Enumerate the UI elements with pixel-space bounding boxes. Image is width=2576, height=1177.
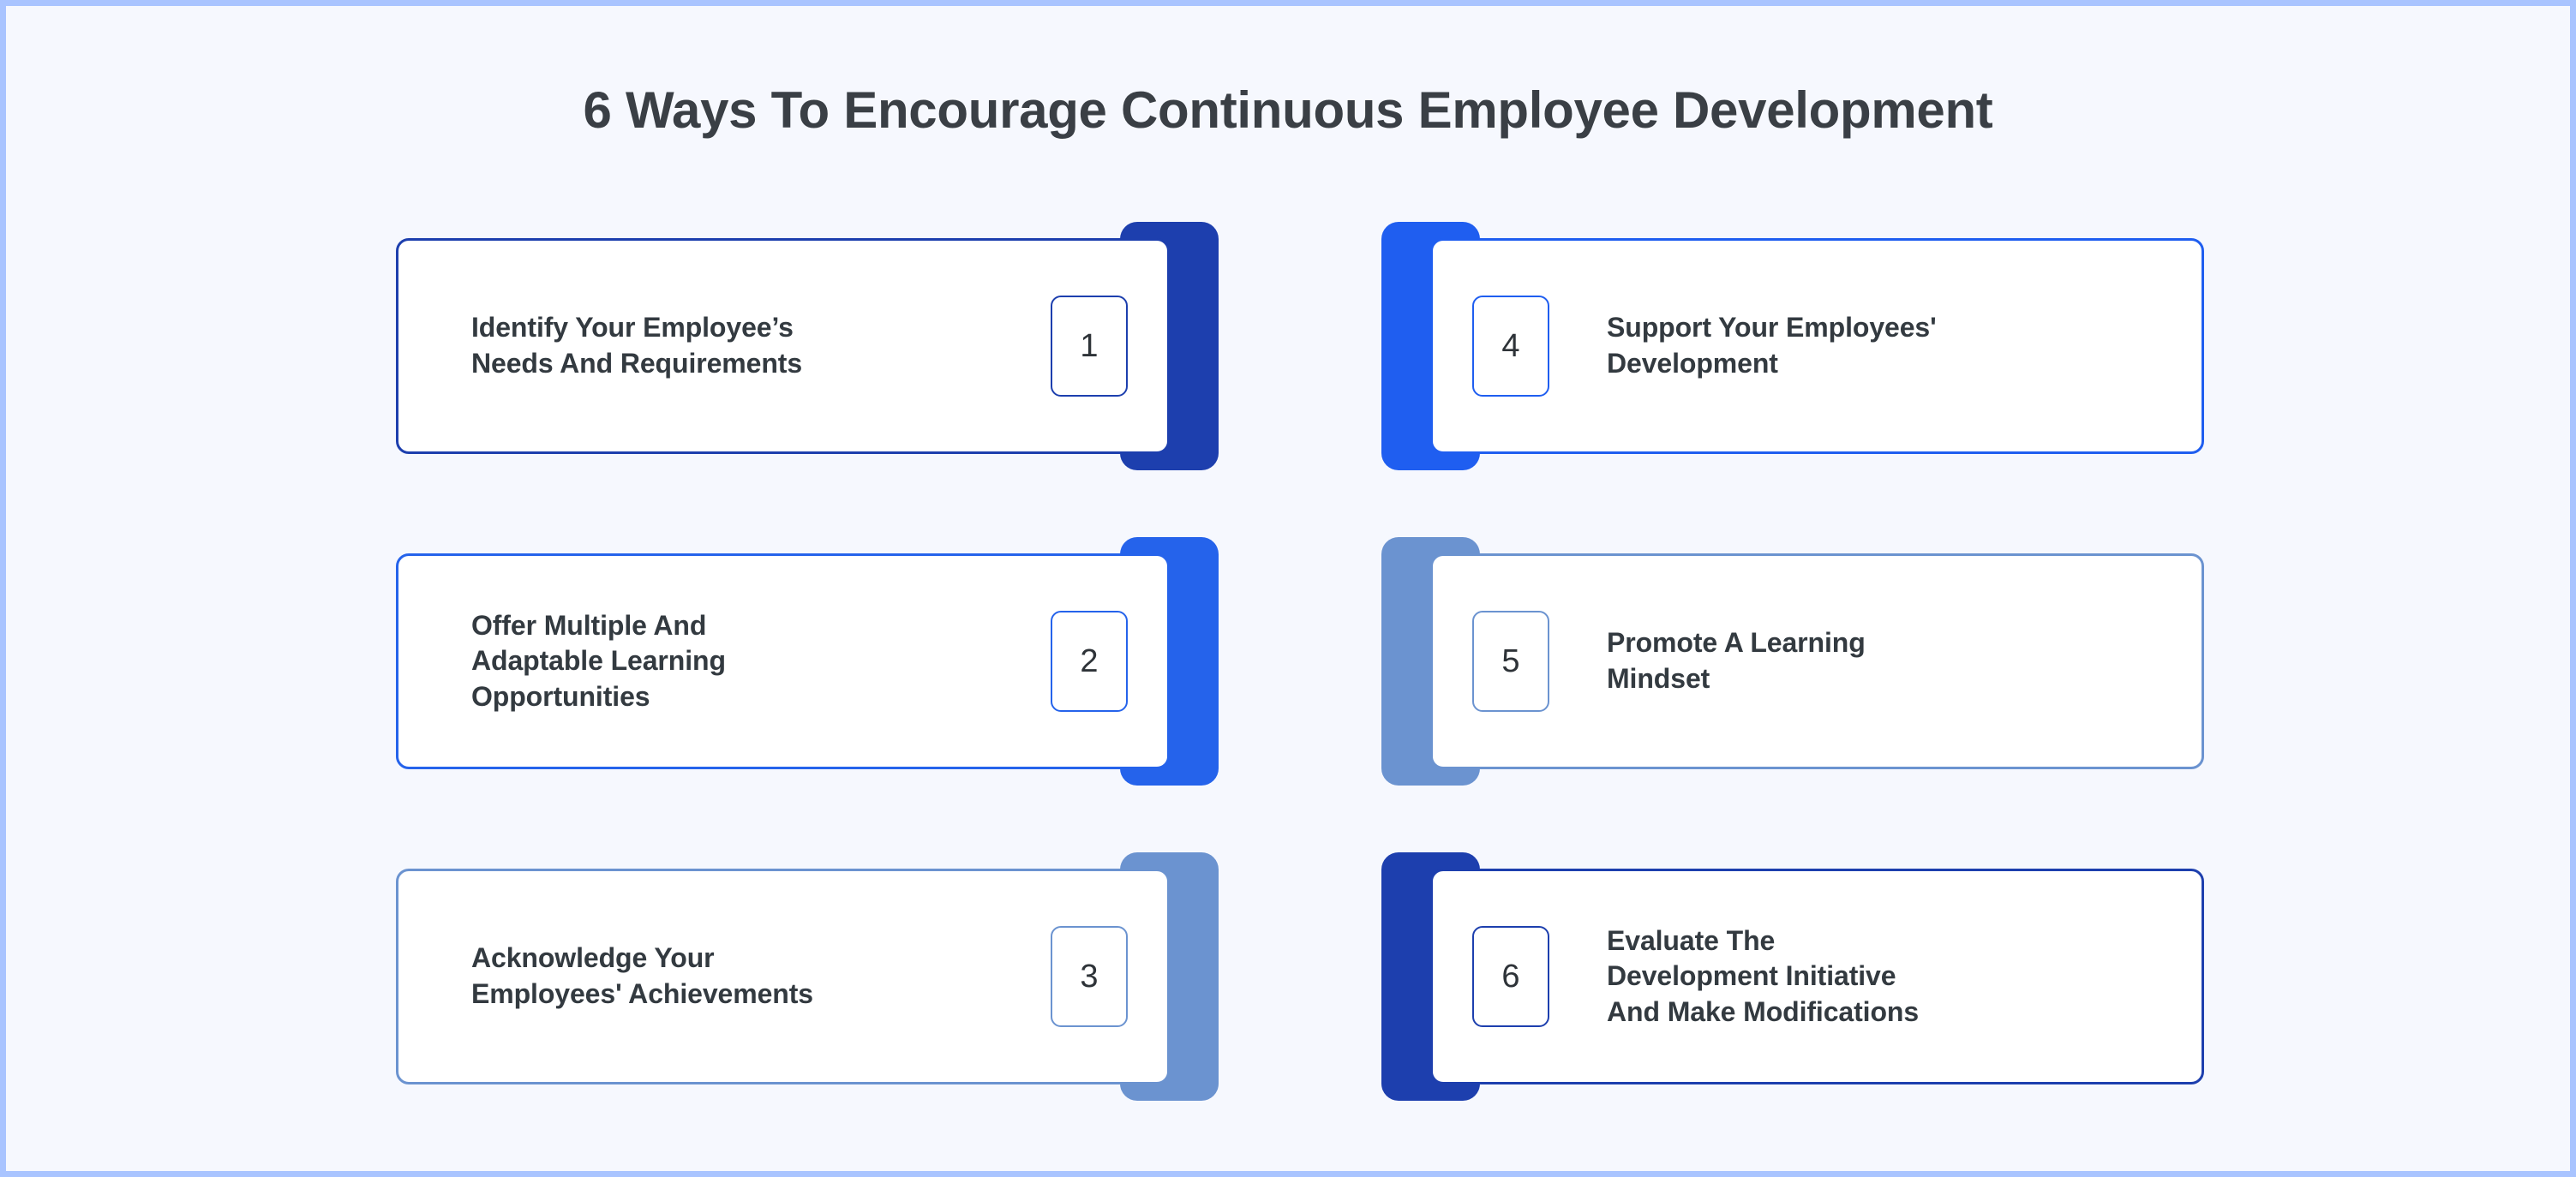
step-card-3: Acknowledge Your Employees' Achievements…: [396, 852, 1219, 1101]
step-card-5: 5Promote A Learning Mindset: [1381, 537, 2204, 786]
card-body: 5Promote A Learning Mindset: [1430, 553, 2204, 769]
step-card-4: 4Support Your Employees' Development: [1381, 222, 2204, 470]
card-label: Offer Multiple And Adaptable Learning Op…: [471, 608, 726, 715]
step-number-badge: 1: [1051, 296, 1128, 397]
step-card-6: 6Evaluate The Development Initiative And…: [1381, 852, 2204, 1101]
step-number-badge: 2: [1051, 611, 1128, 712]
step-number-badge: 4: [1472, 296, 1549, 397]
step-number-badge: 3: [1051, 926, 1128, 1027]
card-body: 6Evaluate The Development Initiative And…: [1430, 869, 2204, 1084]
card-label: Acknowledge Your Employees' Achievements: [471, 941, 813, 1012]
card-label: Promote A Learning Mindset: [1607, 625, 1866, 696]
card-label: Identify Your Employee’s Needs And Requi…: [471, 310, 802, 381]
cards-grid: Identify Your Employee’s Needs And Requi…: [396, 222, 2204, 1104]
card-body: 4Support Your Employees' Development: [1430, 238, 2204, 454]
page-title: 6 Ways To Encourage Continuous Employee …: [6, 81, 2570, 139]
step-number-badge: 6: [1472, 926, 1549, 1027]
step-card-2: Offer Multiple And Adaptable Learning Op…: [396, 537, 1219, 786]
card-label: Support Your Employees' Development: [1607, 310, 1937, 381]
card-label: Evaluate The Development Initiative And …: [1607, 923, 1919, 1031]
card-body: Acknowledge Your Employees' Achievements…: [396, 869, 1170, 1084]
card-body: Offer Multiple And Adaptable Learning Op…: [396, 553, 1170, 769]
infographic-page: 6 Ways To Encourage Continuous Employee …: [0, 0, 2576, 1177]
card-body: Identify Your Employee’s Needs And Requi…: [396, 238, 1170, 454]
step-card-1: Identify Your Employee’s Needs And Requi…: [396, 222, 1219, 470]
step-number-badge: 5: [1472, 611, 1549, 712]
